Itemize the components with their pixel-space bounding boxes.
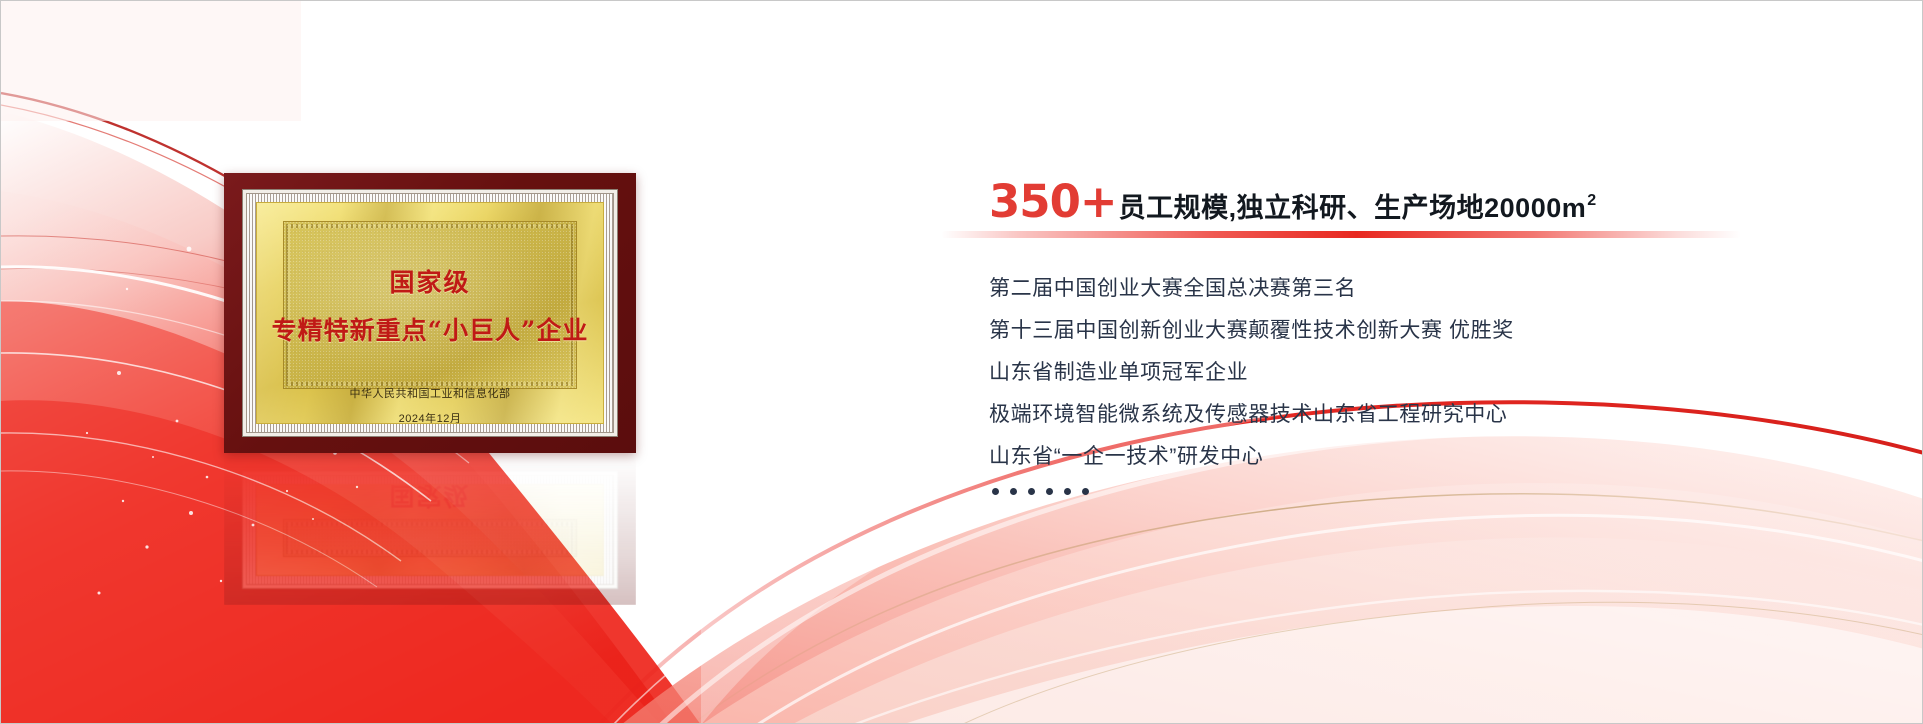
plaque-silver-border: 国家级 专精特新重点“小巨人”企业 中华人民共和国工业和信息化部 2024年12…	[242, 471, 618, 589]
headline-superscript: 2	[1587, 192, 1596, 210]
ellipsis-dots	[992, 488, 1839, 495]
honor-item: 第十三届中国创新创业大赛颠覆性技术创新大赛 优胜奖	[989, 320, 1839, 341]
plaque-silver-border: 国家级 专精特新重点“小巨人”企业 中华人民共和国工业和信息化部 2024年12…	[242, 189, 618, 437]
reflection-plaque-clone: 国家级 专精特新重点“小巨人”企业 中华人民共和国工业和信息化部 2024年12…	[224, 455, 636, 605]
honors-banner: 国家级 专精特新重点“小巨人”企业 中华人民共和国工业和信息化部 2024年12…	[0, 0, 1923, 724]
ellipsis-dot	[1046, 488, 1053, 495]
plaque-issuer: 中华人民共和国工业和信息化部	[350, 385, 511, 401]
plaque-title-line1: 国家级	[389, 484, 470, 515]
award-plaque: 国家级 专精特新重点“小巨人”企业 中华人民共和国工业和信息化部 2024年12…	[224, 173, 636, 453]
ellipsis-dot	[1010, 488, 1017, 495]
honors-list: 第二届中国创业大赛全国总决赛第三名 第十三届中国创新创业大赛颠覆性技术创新大赛 …	[989, 278, 1839, 495]
plaque-reflection: 国家级 专精特新重点“小巨人”企业 中华人民共和国工业和信息化部 2024年12…	[224, 455, 636, 605]
ellipsis-dot	[1082, 488, 1089, 495]
honor-item: 第二届中国创业大赛全国总决赛第三名	[989, 278, 1839, 299]
ellipsis-dot	[992, 488, 999, 495]
plaque-outer-frame: 国家级 专精特新重点“小巨人”企业 中华人民共和国工业和信息化部 2024年12…	[224, 173, 636, 453]
headline: 350+ 员工规模,独立科研、生产场地20000m 2	[989, 179, 1809, 224]
plaque-date: 2024年12月	[399, 410, 462, 424]
plaque-title-line1: 国家级	[389, 263, 470, 299]
ellipsis-dot	[1028, 488, 1035, 495]
honor-item: 山东省制造业单项冠军企业	[989, 362, 1839, 383]
honor-item: 山东省“一企一技术”研发中心	[989, 446, 1839, 467]
plaque-inner-panel: 国家级 专精特新重点“小巨人”企业 中华人民共和国工业和信息化部 2024年12…	[283, 221, 577, 389]
headline-block: 350+ 员工规模,独立科研、生产场地20000m 2	[989, 179, 1809, 224]
headline-underline-rule	[941, 231, 1741, 238]
ellipsis-dot	[1064, 488, 1071, 495]
plaque-gold-panel: 国家级 专精特新重点“小巨人”企业 中华人民共和国工业和信息化部 2024年12…	[256, 202, 604, 424]
plaque-inner-panel: 国家级 专精特新重点“小巨人”企业 中华人民共和国工业和信息化部 2024年12…	[283, 519, 577, 557]
plaque-gold-panel: 国家级 专精特新重点“小巨人”企业 中华人民共和国工业和信息化部 2024年12…	[256, 484, 604, 576]
honor-item: 极端环境智能微系统及传感器技术山东省工程研究中心	[989, 404, 1839, 425]
plaque-title-line2: 专精特新重点“小巨人”企业	[272, 311, 589, 347]
headline-text: 员工规模,独立科研、生产场地20000m	[1119, 195, 1587, 222]
headline-number: 350+	[989, 179, 1117, 224]
